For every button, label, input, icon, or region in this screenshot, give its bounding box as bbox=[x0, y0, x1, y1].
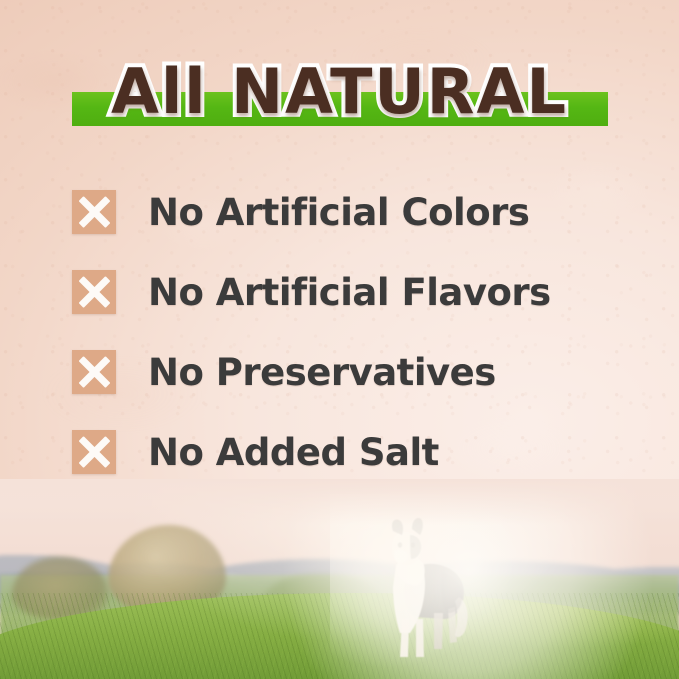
list-item: No Preservatives bbox=[0, 332, 679, 412]
title-banner: All NATURAL bbox=[0, 56, 679, 128]
product-feature-poster: All NATURAL No Artificial Colors No Arti… bbox=[0, 0, 679, 679]
landscape-photo bbox=[0, 479, 679, 679]
grass-texture bbox=[0, 593, 679, 679]
list-item: No Artificial Flavors bbox=[0, 252, 679, 332]
x-mark-icon bbox=[72, 350, 116, 394]
benefit-label: No Artificial Colors bbox=[148, 194, 529, 231]
x-mark-icon bbox=[72, 190, 116, 234]
x-mark-icon bbox=[72, 430, 116, 474]
benefit-label: No Added Salt bbox=[148, 434, 439, 471]
benefits-list: No Artificial Colors No Artificial Flavo… bbox=[0, 172, 679, 492]
x-mark-icon bbox=[72, 270, 116, 314]
list-item: No Artificial Colors bbox=[0, 172, 679, 252]
poster-title: All NATURAL bbox=[0, 56, 679, 128]
benefit-label: No Artificial Flavors bbox=[148, 274, 551, 311]
benefit-label: No Preservatives bbox=[148, 354, 496, 391]
border-collie-dog bbox=[366, 515, 478, 661]
